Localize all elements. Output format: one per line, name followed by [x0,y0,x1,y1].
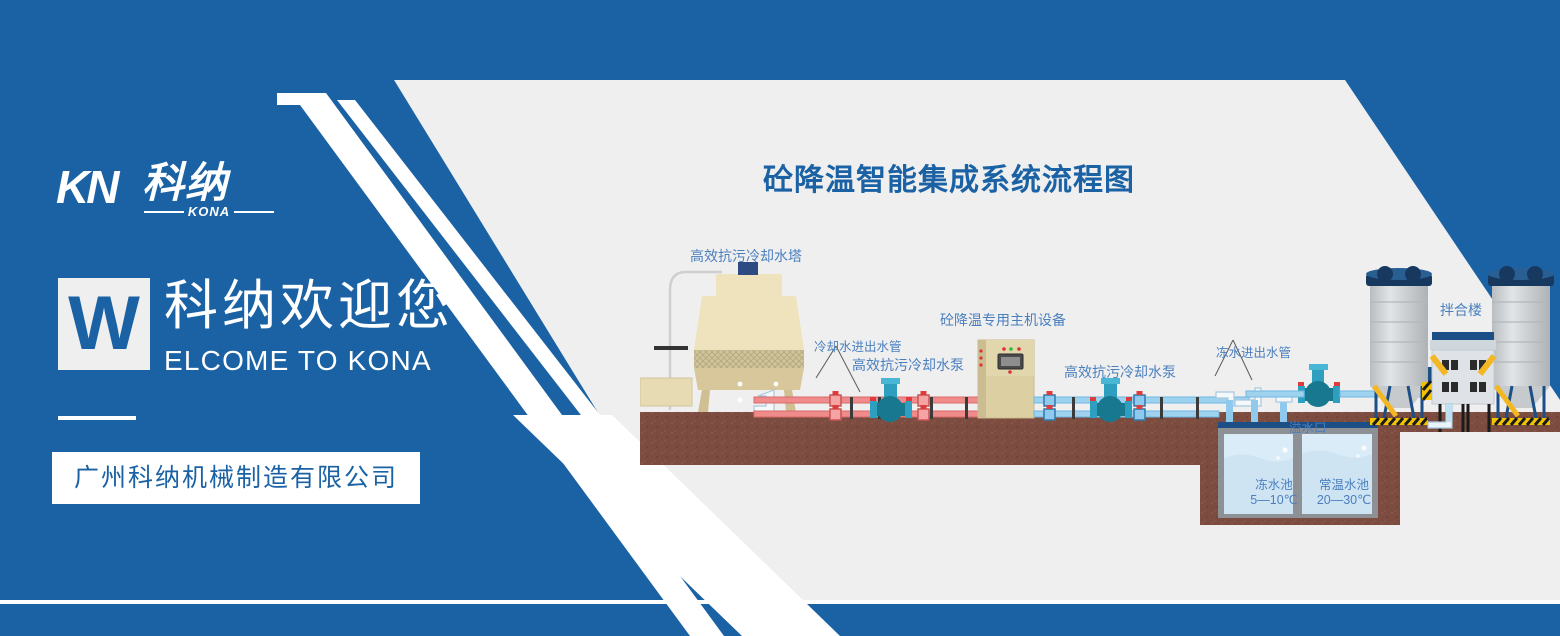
pool-name-chilled: 冻水池 [1244,478,1304,493]
label-chilled-water-pipe: 冻水进出水管 [1216,346,1291,361]
label-cooling-tower: 高效抗污冷却水塔 [690,249,802,264]
logo-english-row: KONA [144,204,274,219]
pool-name-ambient: 常温水池 [1311,478,1377,493]
welcome-headline-cn: 科纳欢迎您 [164,276,454,336]
chiller-unit [978,340,1034,418]
divider-rule [58,416,136,420]
label-chiller: 砼降温专用主机设备 [940,313,1066,328]
pool-temp-chilled: 5—10℃ [1244,493,1304,508]
banner-canvas: KN 科纳 KONA W 科纳欢迎您 ELCOME TO KONA 广州科纳机械… [0,0,1560,636]
w-letter: W [68,286,140,362]
label-cooling-pump-right: 高效抗污冷却水泵 [1064,365,1176,380]
process-flow-illustration [640,250,1560,540]
logo-rule-right [234,211,274,213]
mixing-plant-graphic [1366,266,1554,432]
logo-rule-left [144,211,184,213]
logo-english-name: KONA [188,204,230,219]
label-cooling-pump-left: 高效抗污冷却水泵 [852,358,964,373]
cooling-tower-graphic [640,262,804,412]
company-name: 广州科纳机械制造有限公司 [74,464,398,492]
diagram-title: 砼降温智能集成系统流程图 [763,155,1135,199]
logo-mark-kn: KN [56,164,116,210]
label-mixing-plant: 拌合楼 [1440,303,1482,318]
kona-logo: KN 科纳 KONA [56,160,266,222]
logo-chinese-name: 科纳 [142,160,228,206]
label-cooling-water-pipe: 冷却水进出水管 [814,340,902,355]
w-letter-box: W [58,278,150,370]
company-name-plate: 广州科纳机械制造有限公司 [52,452,420,504]
pool-temp-ambient: 20—30℃ [1311,493,1377,508]
welcome-headline-en: ELCOME TO KONA [164,345,432,377]
label-overflow: 溢水口 [1289,421,1327,436]
